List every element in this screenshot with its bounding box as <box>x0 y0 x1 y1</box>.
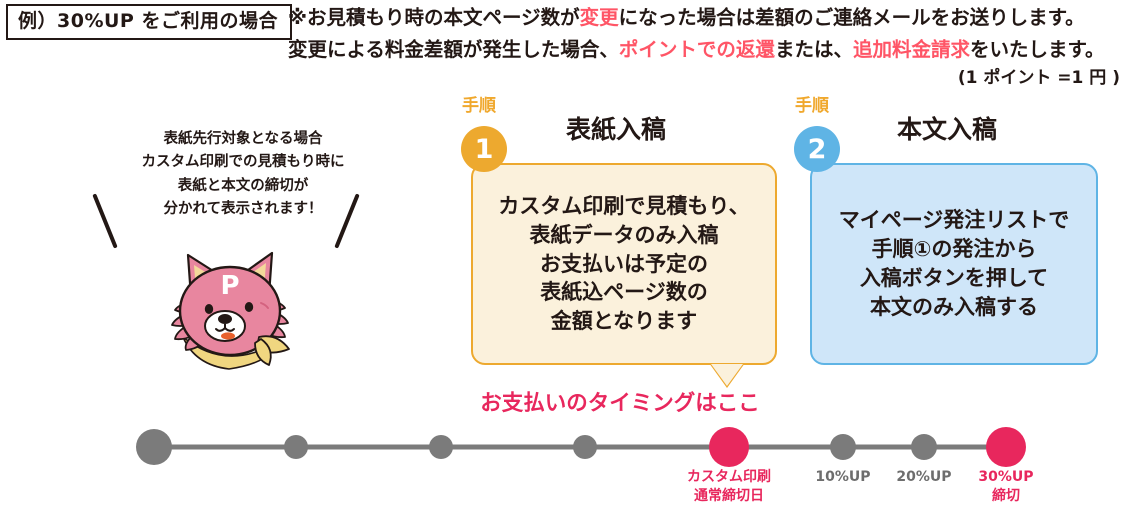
notice-line-2: 変更による料金差額が発生した場合、ポイントでの返還または、追加料金請求をいたしま… <box>288 34 1126 66</box>
timeline-dot-7 <box>911 434 937 460</box>
step-1-balloon: カスタム印刷で見積もり、表紙データのみ入稿お支払いは予定の表紙込ページ数の金額と… <box>471 163 777 365</box>
deadline-timeline: カスタム印刷通常締切日10%UP20%UP30%UP締切 <box>0 400 1126 527</box>
notice-segment: になった場合は差額のご連絡メールをお送りします。 <box>619 6 1085 29</box>
notice-segment: 変更 <box>580 6 619 29</box>
notice-text-block: ※お見積もり時の本文ページ数が変更になった場合は差額のご連絡メールをお送りします… <box>288 2 1126 93</box>
balloon-line: 入稿ボタンを押して <box>839 264 1070 293</box>
annotation-line: 表紙と本文の締切が <box>98 175 388 198</box>
step-1-word: 手順 <box>462 98 496 115</box>
step-2-balloon: マイページ発注リストで手順①の発注から入稿ボタンを押して本文のみ入稿する <box>810 163 1098 365</box>
step-1-title: 表紙入稿 <box>566 110 666 146</box>
step-2-word: 手順 <box>795 98 829 115</box>
balloon-line: 本文のみ入稿する <box>839 293 1070 322</box>
timeline-label-line: 締切 <box>936 487 1076 506</box>
notice-segment: または、 <box>775 38 853 61</box>
timeline-dot-8 <box>986 427 1026 467</box>
balloon-line: 表紙込ページ数の <box>498 278 749 307</box>
timeline-label-line: 通常締切日 <box>659 487 799 506</box>
timeline-dot-5 <box>709 427 749 467</box>
notice-segment: ※お見積もり時の本文ページ数が <box>288 6 580 29</box>
step-1-body-text: カスタム印刷で見積もり、表紙データのみ入稿お支払いは予定の表紙込ページ数の金額と… <box>498 192 749 337</box>
infographic-canvas: 例）30%UP をご利用の場合 ※お見積もり時の本文ページ数が変更になった場合は… <box>0 0 1126 527</box>
balloon-line: マイページ発注リストで <box>839 206 1070 235</box>
balloon-line: 表紙データのみ入稿 <box>498 221 749 250</box>
notice-segment: をいたします。 <box>970 38 1105 61</box>
notice-segment: 追加料金請求 <box>853 38 970 61</box>
timeline-dot-6 <box>830 434 856 460</box>
balloon-line: 手順①の発注から <box>839 235 1070 264</box>
timeline-label-line: 30%UP <box>936 468 1076 487</box>
svg-text:P: P <box>220 271 239 301</box>
step-2-title: 本文入稿 <box>897 110 997 146</box>
timeline-dot-2 <box>284 435 308 459</box>
timeline-dot-1 <box>136 429 172 465</box>
step-2-body-text: マイページ発注リストで手順①の発注から入稿ボタンを押して本文のみ入稿する <box>839 206 1070 322</box>
balloon-line: 金額となります <box>498 307 749 336</box>
example-badge: 例）30%UP をご利用の場合 <box>6 4 292 40</box>
step-1-balloon-tail <box>711 364 743 386</box>
notice-segment: ポイントでの返還 <box>619 38 775 61</box>
timeline-dot-4 <box>573 435 597 459</box>
balloon-line: カスタム印刷で見積もり、 <box>498 192 749 221</box>
notice-line-1: ※お見積もり時の本文ページ数が変更になった場合は差額のご連絡メールをお送りします… <box>288 2 1126 34</box>
annotation-line: 表紙先行対象となる場合 <box>98 128 388 151</box>
notice-segment: 変更による料金差額が発生した場合、 <box>288 38 619 61</box>
pink-cat-mascot-icon: P <box>155 245 305 380</box>
step-2-number-badge: 2 <box>794 126 840 172</box>
notice-point-rate: (1 ポイント =1 円 ) <box>288 65 1126 93</box>
annotation-line: カスタム印刷での見積もり時に <box>98 151 388 174</box>
step-1-number-badge: 1 <box>461 126 507 172</box>
timeline-dot-3 <box>429 435 453 459</box>
balloon-line: お支払いは予定の <box>498 250 749 279</box>
cover-priority-annotation: 表紙先行対象となる場合カスタム印刷での見積もり時に表紙と本文の締切が分かれて表示… <box>98 128 388 222</box>
timeline-label-dot-8: 30%UP締切 <box>936 468 1076 506</box>
